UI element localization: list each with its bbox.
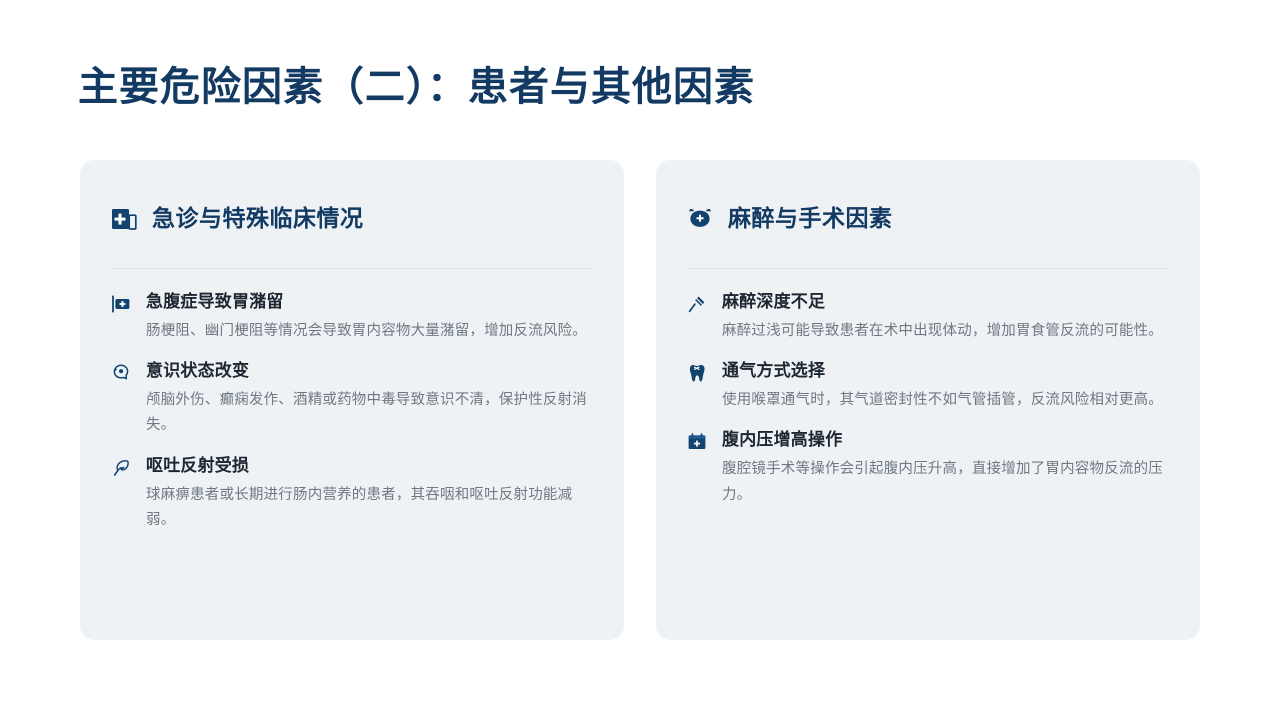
item-body: 腹内压增高操作 腹腔镜手术等操作会引起腹内压升高，直接增加了胃内容物反流的压力。 — [722, 429, 1170, 508]
card-emergency-clinical: 急诊与特殊临床情况 急腹症导致胃潴留 肠梗阻、幽门 — [80, 160, 624, 640]
card-title: 麻醉与手术因素 — [728, 205, 893, 233]
item-description: 肠梗阻、幽门梗阻等情况会导致胃内容物大量潴留，增加反流风险。 — [146, 319, 594, 344]
item-title: 意识状态改变 — [146, 360, 594, 383]
pushpin-diamond-icon — [686, 293, 708, 315]
feather-pen-icon — [110, 457, 132, 479]
slide-root: 主要危险因素（二）：患者与其他因素 急诊与特殊临床情况 — [0, 0, 1280, 720]
item-body: 呕吐反射受损 球麻痹患者或长期进行肠内营养的患者，其吞咽和呕吐反射功能减弱。 — [146, 455, 594, 534]
item-description: 腹腔镜手术等操作会引起腹内压升高，直接增加了胃内容物反流的压力。 — [722, 457, 1170, 508]
list-item: 急腹症导致胃潴留 肠梗阻、幽门梗阻等情况会导致胃内容物大量潴留，增加反流风险。 — [110, 291, 594, 344]
list-item: 腹内压增高操作 腹腔镜手术等操作会引起腹内压升高，直接增加了胃内容物反流的压力。 — [686, 429, 1170, 508]
item-title: 呕吐反射受损 — [146, 455, 594, 478]
items-list: 急腹症导致胃潴留 肠梗阻、幽门梗阻等情况会导致胃内容物大量潴留，增加反流风险。 … — [110, 291, 594, 534]
card-divider — [110, 268, 594, 269]
tooth-icon — [686, 362, 708, 384]
items-list: 麻醉深度不足 麻醉过浅可能导致患者在术中出现体动，增加胃食管反流的可能性。 通气… — [686, 291, 1170, 508]
card-header: 麻醉与手术因素 — [686, 186, 1170, 268]
card-divider — [686, 268, 1170, 269]
page-title: 主要危险因素（二）：患者与其他因素 — [78, 62, 755, 112]
list-item: 意识状态改变 颅脑外伤、癫痫发作、酒精或药物中毒导致意识不清，保护性反射消失。 — [110, 360, 594, 439]
item-description: 使用喉罩通气时，其气道密封性不如气管插管，反流风险相对更高。 — [722, 388, 1170, 413]
cards-container: 急诊与特殊临床情况 急腹症导致胃潴留 肠梗阻、幽门 — [80, 160, 1200, 640]
card-title: 急诊与特殊临床情况 — [152, 205, 364, 233]
card-header: 急诊与特殊临床情况 — [110, 186, 594, 268]
calendar-plus-icon — [686, 431, 708, 453]
list-item: 呕吐反射受损 球麻痹患者或长期进行肠内营养的患者，其吞咽和呕吐反射功能减弱。 — [110, 455, 594, 534]
card-anesthesia-surgery: 麻醉与手术因素 麻醉深度不足 麻醉过浅可能导致患者在术中出现体动，增加胃食管反流 — [656, 160, 1200, 640]
hospital-plus-icon — [110, 205, 138, 233]
item-body: 麻醉深度不足 麻醉过浅可能导致患者在术中出现体动，增加胃食管反流的可能性。 — [722, 291, 1170, 344]
anesthesia-mask-plus-icon — [686, 205, 714, 233]
item-description: 麻醉过浅可能导致患者在术中出现体动，增加胃食管反流的可能性。 — [722, 319, 1170, 344]
list-item: 麻醉深度不足 麻醉过浅可能导致患者在术中出现体动，增加胃食管反流的可能性。 — [686, 291, 1170, 344]
item-title: 通气方式选择 — [722, 360, 1170, 383]
sign-medical-plus-icon — [110, 293, 132, 315]
item-title: 麻醉深度不足 — [722, 291, 1170, 314]
item-body: 意识状态改变 颅脑外伤、癫痫发作、酒精或药物中毒导致意识不清，保护性反射消失。 — [146, 360, 594, 439]
item-title: 腹内压增高操作 — [722, 429, 1170, 452]
item-description: 球麻痹患者或长期进行肠内营养的患者，其吞咽和呕吐反射功能减弱。 — [146, 483, 594, 534]
item-body: 急腹症导致胃潴留 肠梗阻、幽门梗阻等情况会导致胃内容物大量潴留，增加反流风险。 — [146, 291, 594, 344]
list-item: 通气方式选择 使用喉罩通气时，其气道密封性不如气管插管，反流风险相对更高。 — [686, 360, 1170, 413]
item-title: 急腹症导致胃潴留 — [146, 291, 594, 314]
brain-icon — [110, 362, 132, 384]
item-body: 通气方式选择 使用喉罩通气时，其气道密封性不如气管插管，反流风险相对更高。 — [722, 360, 1170, 413]
item-description: 颅脑外伤、癫痫发作、酒精或药物中毒导致意识不清，保护性反射消失。 — [146, 388, 594, 439]
